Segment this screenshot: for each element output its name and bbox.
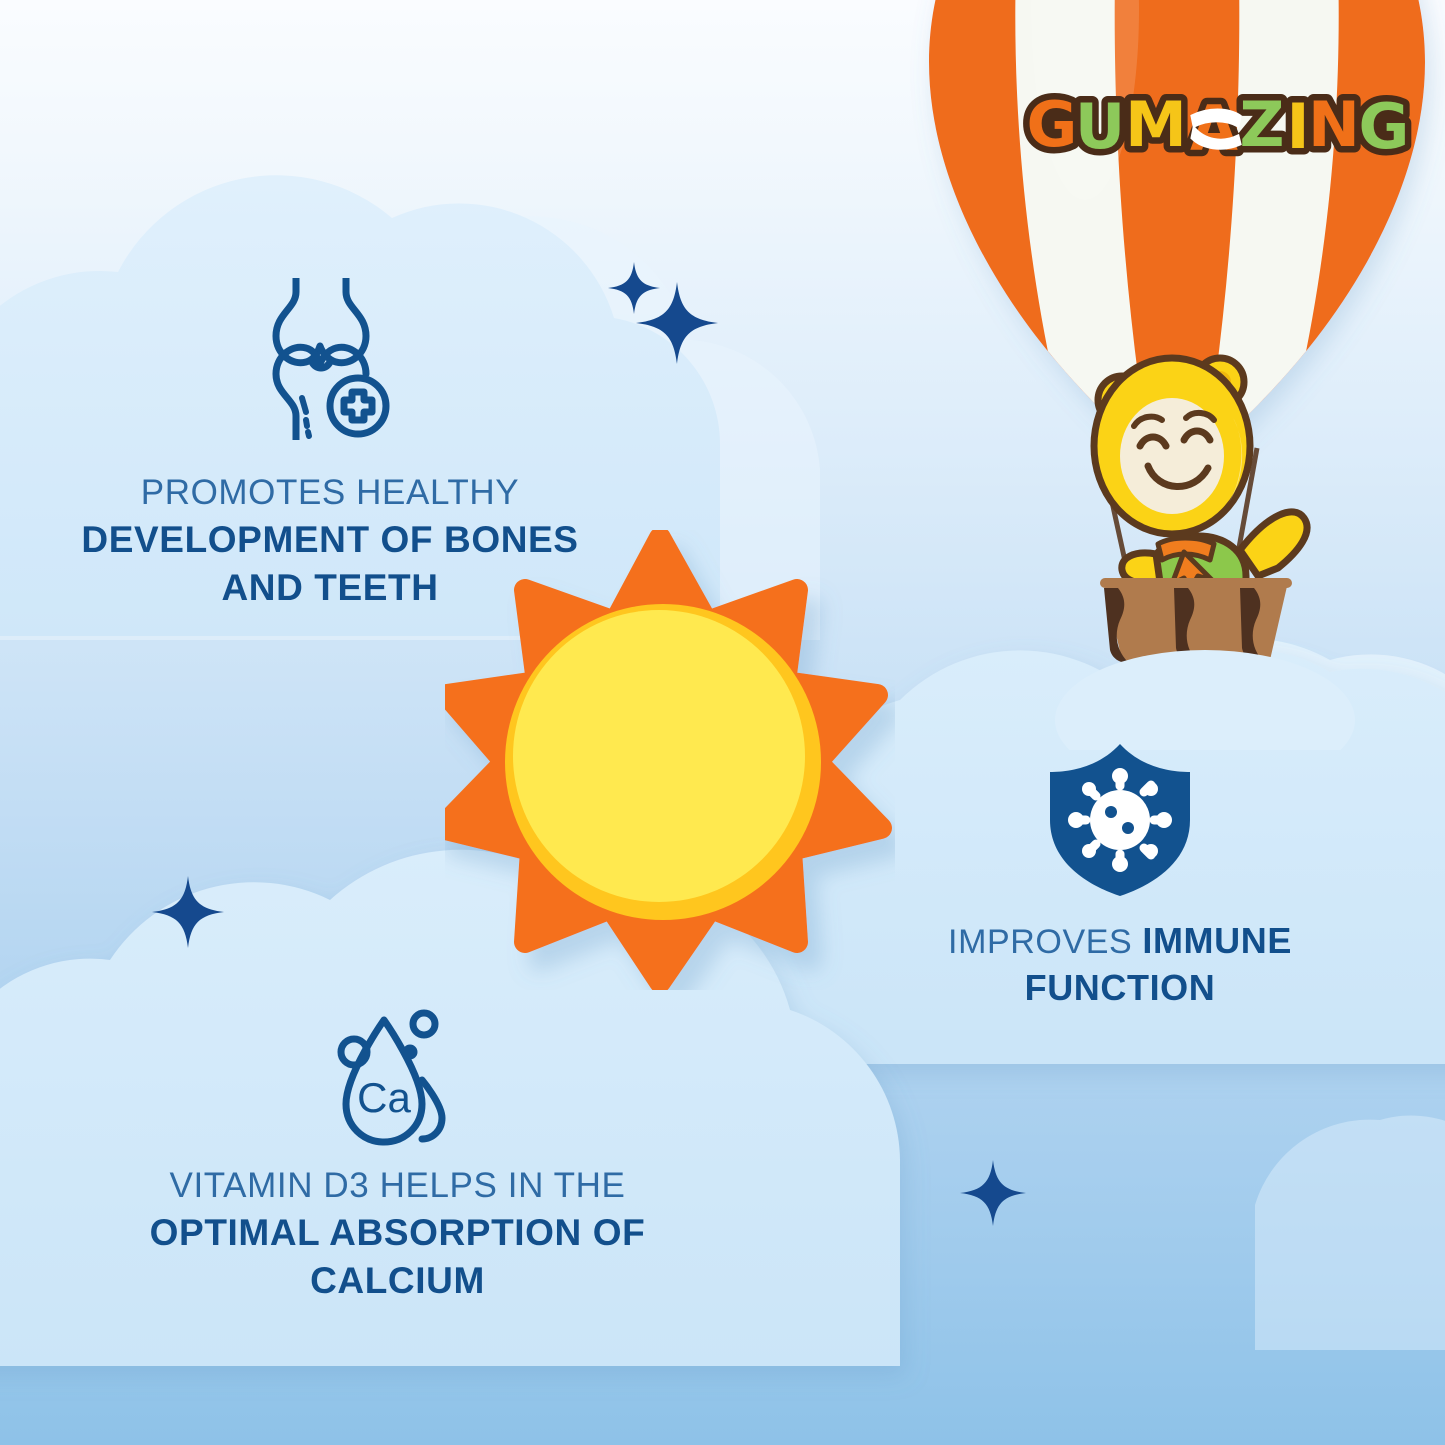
- cloud-lower-right-back: [1255, 1116, 1445, 1350]
- cloud-front-basket: [1040, 630, 1370, 750]
- bone-joint-plus-icon: [262, 278, 392, 440]
- logo-letter-a: A: [1190, 92, 1238, 165]
- mascot-waving-arm: [1240, 512, 1307, 576]
- calcium-droplet-icon: Ca: [336, 1008, 472, 1148]
- brand-logo: G U M A Z I N G G U M A Z I N G: [1022, 78, 1412, 170]
- feature-calcium-line-light: VITAMIN D3 HELPS IN THE: [105, 1163, 690, 1209]
- feature-text-calcium: VITAMIN D3 HELPS IN THE OPTIMAL ABSORPTI…: [105, 1163, 690, 1305]
- feature-text-bones: PROMOTES HEALTHY DEVELOPMENT OF BONES AN…: [40, 470, 620, 612]
- sparkle-bottom-right-icon: [960, 1160, 1026, 1226]
- feature-bones-line-bold-2: AND TEETH: [40, 564, 620, 612]
- calcium-label: Ca: [357, 1074, 411, 1121]
- feature-bones-line-light: PROMOTES HEALTHY: [40, 470, 620, 516]
- logo-letter-z: Z: [1240, 88, 1285, 161]
- feature-text-immune: IMPROVES IMMUNE FUNCTION: [900, 918, 1340, 1012]
- logo-letter-m: M: [1125, 88, 1187, 161]
- feature-calcium-line-bold-1: OPTIMAL ABSORPTION OF: [105, 1209, 690, 1257]
- sparkle-large-top-icon: [636, 282, 718, 364]
- shield-virus-icon: [1046, 742, 1194, 898]
- feature-calcium-line-bold-2: CALCIUM: [105, 1257, 690, 1305]
- feature-immune-line-bold-1: IMMUNE: [1142, 920, 1292, 961]
- logo-letter-i: I: [1286, 90, 1309, 163]
- logo-letter-u: U: [1075, 90, 1125, 163]
- infographic-canvas: G U M A Z I N G G U M A Z I N G: [0, 0, 1445, 1445]
- feature-immune-line-bold-2: FUNCTION: [900, 965, 1340, 1012]
- sparkle-left-mid-icon: [152, 876, 224, 948]
- feature-immune-line-light: IMPROVES: [948, 923, 1142, 961]
- logo-letter-g1: G: [1027, 88, 1078, 161]
- logo-letter-g2: G: [1359, 90, 1410, 163]
- feature-bones-line-bold-1: DEVELOPMENT OF BONES: [40, 516, 620, 564]
- logo-letter-n: N: [1308, 88, 1360, 161]
